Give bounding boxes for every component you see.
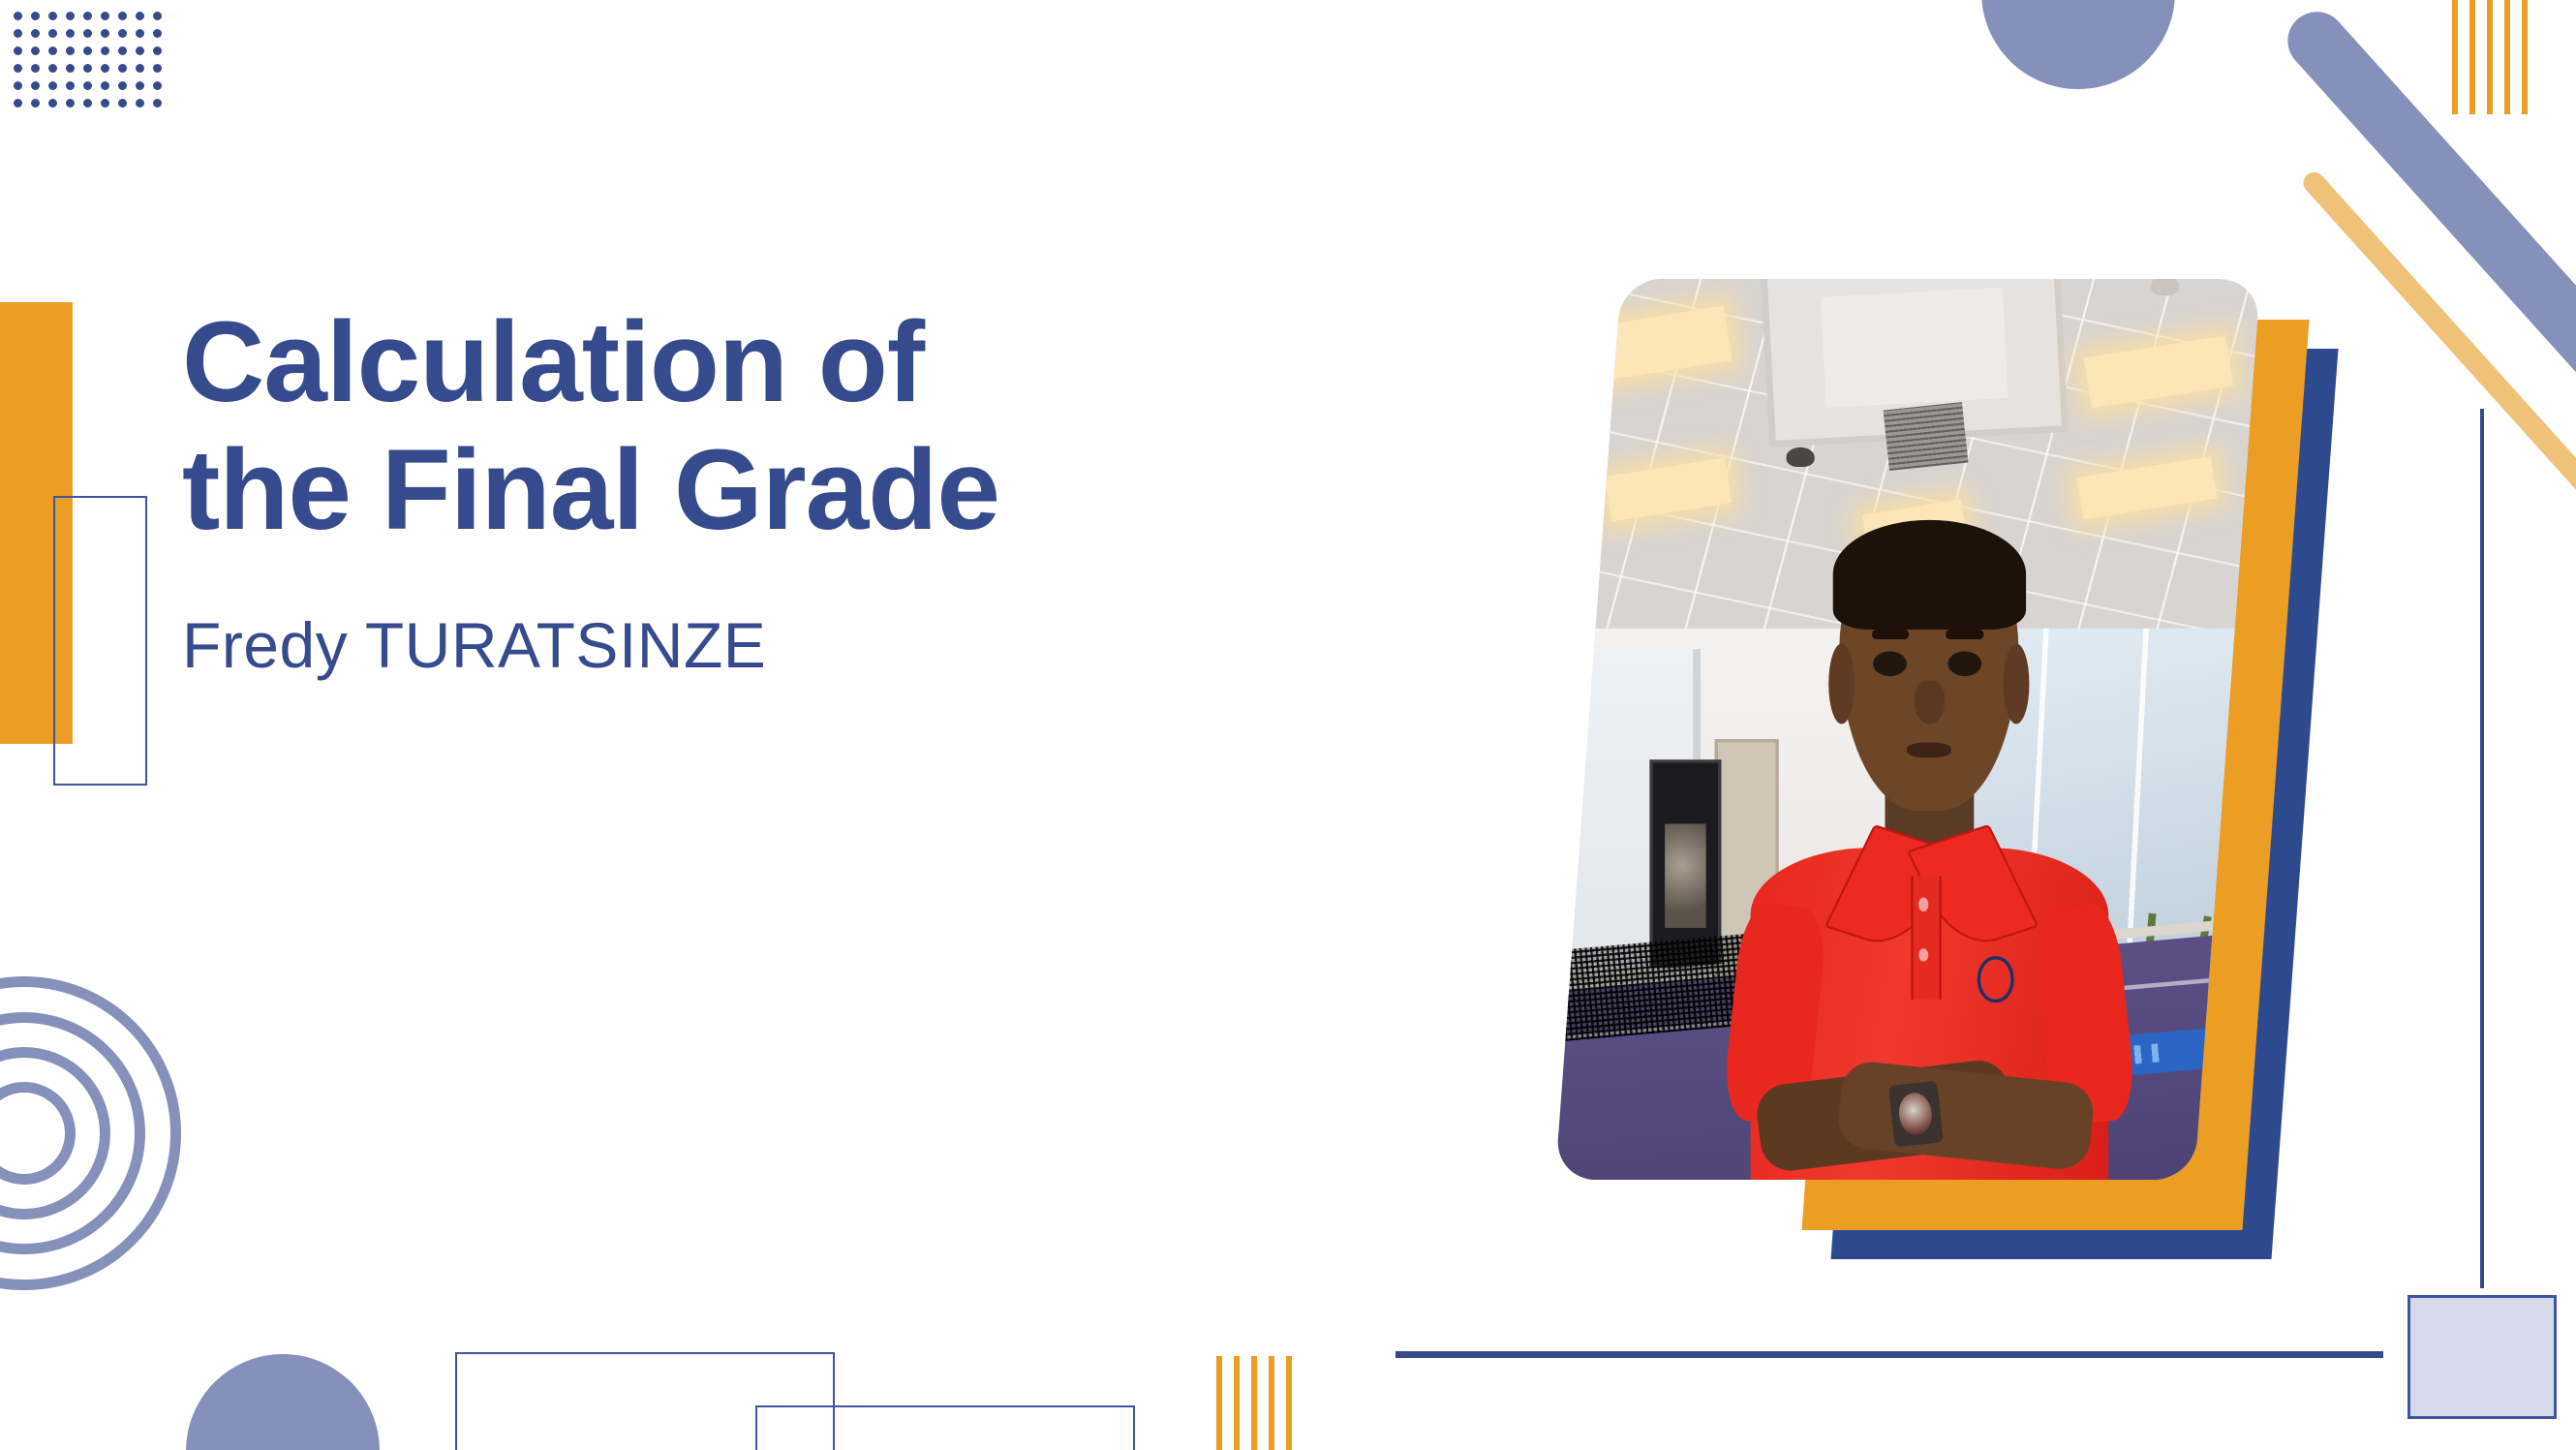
eye-right — [1947, 651, 1981, 675]
portrait-composition — [1472, 262, 2460, 1298]
vertical-line-right-decoration — [2480, 409, 2484, 1288]
vertical-lines-top-right-decoration — [2452, 0, 2528, 114]
shirt-button — [1918, 898, 1928, 910]
portrait-photo-frame — [1555, 279, 2260, 1180]
slide-canvas: Calculation of the Final Grade Fredy TUR… — [0, 0, 2576, 1450]
portrait-photo — [1555, 279, 2260, 1180]
shirt-placket — [1911, 877, 1941, 1000]
vertical-lines-bottom-decoration — [1216, 1356, 1292, 1450]
half-circle-top-decoration — [1981, 0, 2175, 89]
concentric-rings-decoration — [0, 978, 179, 1288]
light-square-decoration — [2407, 1295, 2557, 1419]
wristwatch — [1889, 1081, 1944, 1148]
eyebrow-left — [1872, 630, 1909, 639]
ear-right — [2004, 644, 2030, 724]
title-block: Calculation of the Final Grade Fredy TUR… — [182, 298, 1325, 682]
ceiling-vent-icon — [1884, 403, 1968, 472]
eyebrow-right — [1946, 630, 1982, 639]
outlined-rectangle-left-decoration — [53, 496, 147, 786]
nose — [1915, 680, 1945, 724]
outlined-rectangle-bottom-b-decoration — [755, 1405, 1135, 1450]
half-circle-bottom-decoration — [186, 1354, 380, 1450]
sprinkler-icon — [2151, 279, 2179, 294]
mouth — [1907, 742, 1951, 757]
horizontal-line-bottom-decoration — [1395, 1351, 2383, 1358]
office-scene — [1555, 279, 2260, 1180]
hair — [1832, 520, 2026, 629]
author-name: Fredy TURATSINZE — [182, 608, 1325, 682]
page-title: Calculation of the Final Grade — [182, 298, 1325, 554]
dot-grid-decoration — [14, 12, 170, 116]
portrait-subject — [1743, 528, 2115, 1180]
sprinkler-icon — [1786, 447, 1814, 466]
eye-left — [1873, 651, 1907, 675]
shirt-logo-icon — [1978, 956, 2013, 1003]
ear-left — [1828, 644, 1855, 724]
